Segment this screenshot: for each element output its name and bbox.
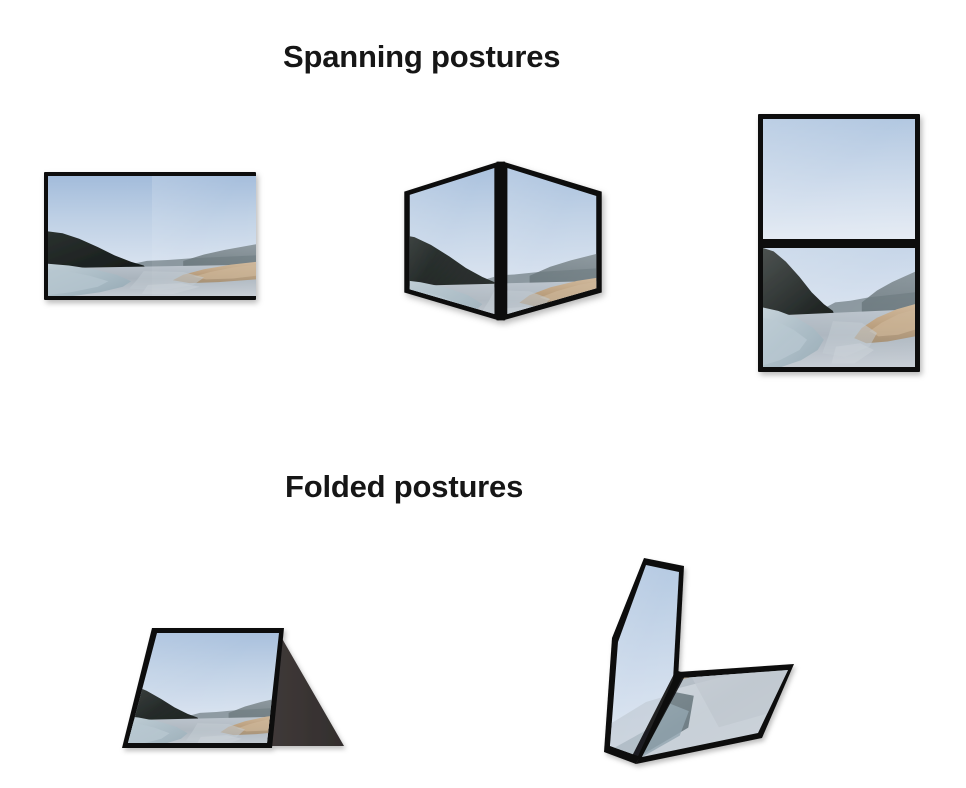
- section-title-folded: Folded postures: [285, 469, 523, 505]
- device-folded-laptop-posture: [566, 552, 816, 776]
- device-dual-screen-tent-front: [400, 152, 606, 330]
- device-body: [122, 628, 344, 748]
- hinge-vertical: [497, 162, 506, 321]
- screen-top: [763, 119, 915, 239]
- hinge-horizontal: [758, 239, 920, 248]
- device-body: [396, 157, 606, 324]
- device-body: [44, 172, 256, 300]
- illustration-stage: Spanning postures Folded postures: [0, 0, 966, 788]
- device-dual-screen-flat-landscape: [40, 168, 264, 310]
- device-body: [596, 552, 814, 779]
- screen-right: [48, 176, 256, 296]
- device-dual-screen-portrait-stacked: [752, 108, 928, 380]
- section-title-spanning: Spanning postures: [283, 39, 560, 75]
- screen-front: [122, 628, 286, 748]
- device-body: [758, 114, 920, 372]
- device-folded-tent-single-screen: [108, 618, 348, 758]
